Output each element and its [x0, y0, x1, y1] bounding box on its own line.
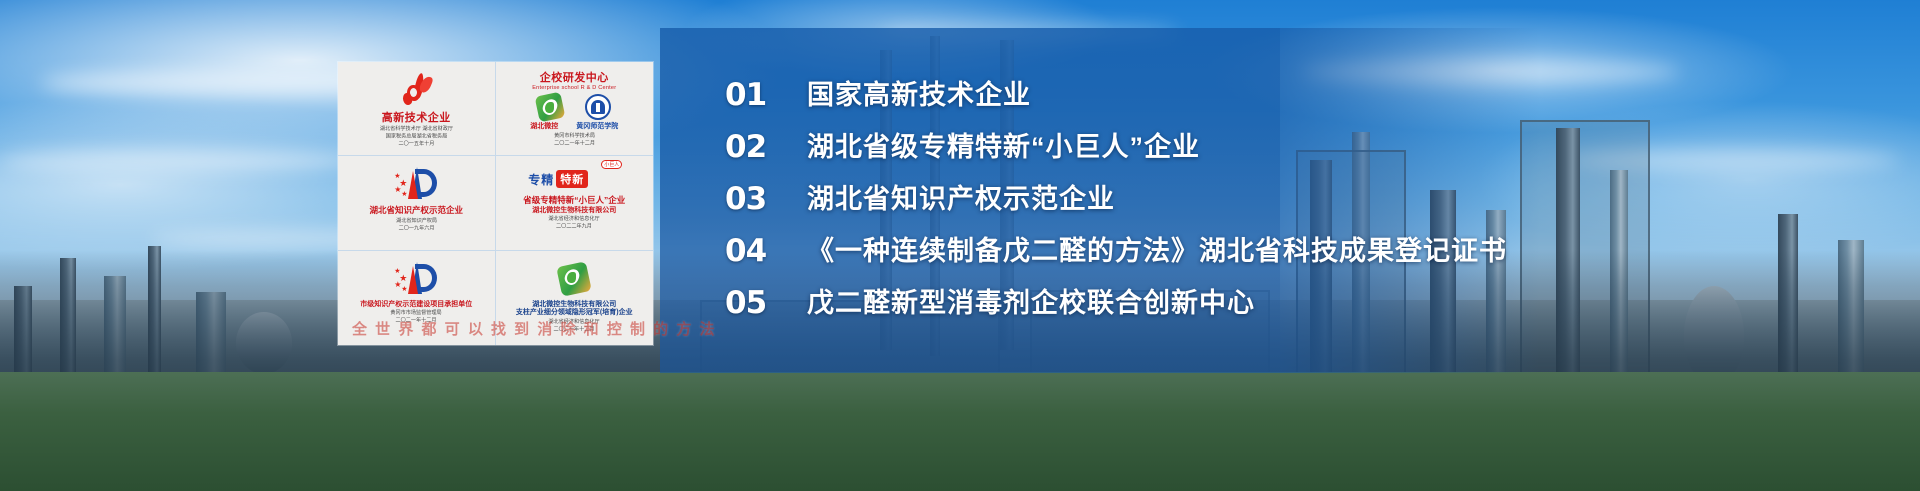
- certificate-title: 湖北微控生物科技有限公司: [532, 301, 616, 309]
- partner-name: 湖北微控: [530, 123, 558, 131]
- badge-text-2: 特新: [556, 170, 588, 188]
- qualification-item[interactable]: 01 国家高新技术企业: [725, 80, 1725, 111]
- badge-text-1: 专精: [528, 171, 554, 188]
- qualification-item[interactable]: 05 戊二醛新型消毒剂企校联合创新中心: [725, 288, 1725, 319]
- flame-icon: [401, 70, 431, 110]
- partner-name: 黄冈师范学院: [576, 123, 618, 131]
- issuer-line: 湖北省科学技术厅 湖北省财政厅: [380, 126, 453, 133]
- certificate-issuer: 黄冈市科学技术局 二〇二一年十二月: [554, 133, 595, 148]
- issuer-line: 湖北省知识产权局: [396, 218, 437, 225]
- certificate-card[interactable]: 企校研发中心 Enterprise school R & D Center 湖北…: [496, 62, 654, 156]
- issuer-line: 二〇二二年九月: [549, 224, 600, 231]
- qualification-number: 01: [725, 80, 779, 111]
- qualification-number: 05: [725, 288, 779, 319]
- certificate-subtitle: 支柱产业细分领域隐形冠军(培育)企业: [516, 309, 633, 317]
- hero-banner: 高新技术企业 湖北省科学技术厅 湖北省财政厅 国家税务总局湖北省税务局 二〇一五…: [0, 0, 1920, 491]
- zhuanjing-badge-icon: 专精 特新 小巨人: [528, 164, 620, 194]
- certificate-title: 高新技术企业: [382, 112, 451, 124]
- certificate-card[interactable]: ★★★★ 湖北省知识产权示范企业 湖北省知识产权局 二〇一九年六月: [338, 156, 496, 250]
- watermark-text: 全 世 界 都 可 以 找 到 消 除 和 控 制 的 方 法: [352, 318, 912, 339]
- qualification-item[interactable]: 04 《一种连续制备戊二醛的方法》湖北省科技成果登记证书: [725, 236, 1725, 267]
- issuer-line: 二〇一五年十月: [380, 141, 453, 148]
- certificate-issuer: 湖北省知识产权局 二〇一九年六月: [396, 218, 437, 233]
- issuer-line: 国家税务总局湖北省税务局: [380, 134, 453, 141]
- qualification-number: 03: [725, 184, 779, 215]
- qualification-text: 国家高新技术企业: [807, 81, 1031, 111]
- qualification-text: 湖北省级专精特新“小巨人”企业: [807, 133, 1200, 163]
- qualification-number: 02: [725, 132, 779, 163]
- certificate-company: 湖北微控生物科技有限公司: [532, 207, 616, 215]
- qualification-text: 《一种连续制备戊二醛的方法》湖北省科技成果登记证书: [807, 237, 1507, 267]
- qualification-text: 湖北省知识产权示范企业: [807, 185, 1115, 215]
- certificate-title: 省级专精特新“小巨人”企业: [523, 196, 625, 205]
- issuer-line: 二〇一九年六月: [396, 225, 437, 232]
- leaf-icon: [537, 94, 563, 120]
- ip-logo-icon: ★★★★: [393, 259, 439, 299]
- issuer-line: 黄冈市科学技术局: [554, 133, 595, 140]
- qualification-list: 01 国家高新技术企业 02 湖北省级专精特新“小巨人”企业 03 湖北省知识产…: [725, 80, 1725, 319]
- qualification-text: 戊二醛新型消毒剂企校联合创新中心: [807, 289, 1255, 319]
- ip-logo-icon: ★★★★: [393, 164, 439, 204]
- certificate-issuer: 湖北省科学技术厅 湖北省财政厅 国家税务总局湖北省税务局 二〇一五年十月: [380, 126, 453, 148]
- qualification-item[interactable]: 03 湖北省知识产权示范企业: [725, 184, 1725, 215]
- certificate-issuer: 湖北省经济和信息化厅 二〇二二年九月: [549, 216, 600, 231]
- certificate-title: 湖北省知识产权示范企业: [369, 206, 463, 215]
- certificate-gallery: 高新技术企业 湖北省科学技术厅 湖北省财政厅 国家税务总局湖北省税务局 二〇一五…: [338, 62, 653, 345]
- green-landscaping: [0, 372, 1920, 491]
- leaf-icon: [559, 259, 589, 299]
- certificate-card[interactable]: 高新技术企业 湖北省科学技术厅 湖北省财政厅 国家税务总局湖北省税务局 二〇一五…: [338, 62, 496, 156]
- qualification-number: 04: [725, 236, 779, 267]
- certificate-subtitle-en: Enterprise school R & D Center: [532, 85, 616, 91]
- issuer-line: 二〇二一年十二月: [554, 140, 595, 147]
- university-seal-icon: [585, 94, 611, 120]
- certificate-title: 企校研发中心: [540, 72, 609, 84]
- badge-tag: 小巨人: [601, 160, 622, 169]
- qualification-item[interactable]: 02 湖北省级专精特新“小巨人”企业: [725, 132, 1725, 163]
- certificate-title: 市级知识产权示范建设项目承担单位: [360, 301, 472, 309]
- certificate-card[interactable]: 专精 特新 小巨人 省级专精特新“小巨人”企业 湖北微控生物科技有限公司 湖北省…: [496, 156, 654, 250]
- partner-logos: [537, 94, 611, 120]
